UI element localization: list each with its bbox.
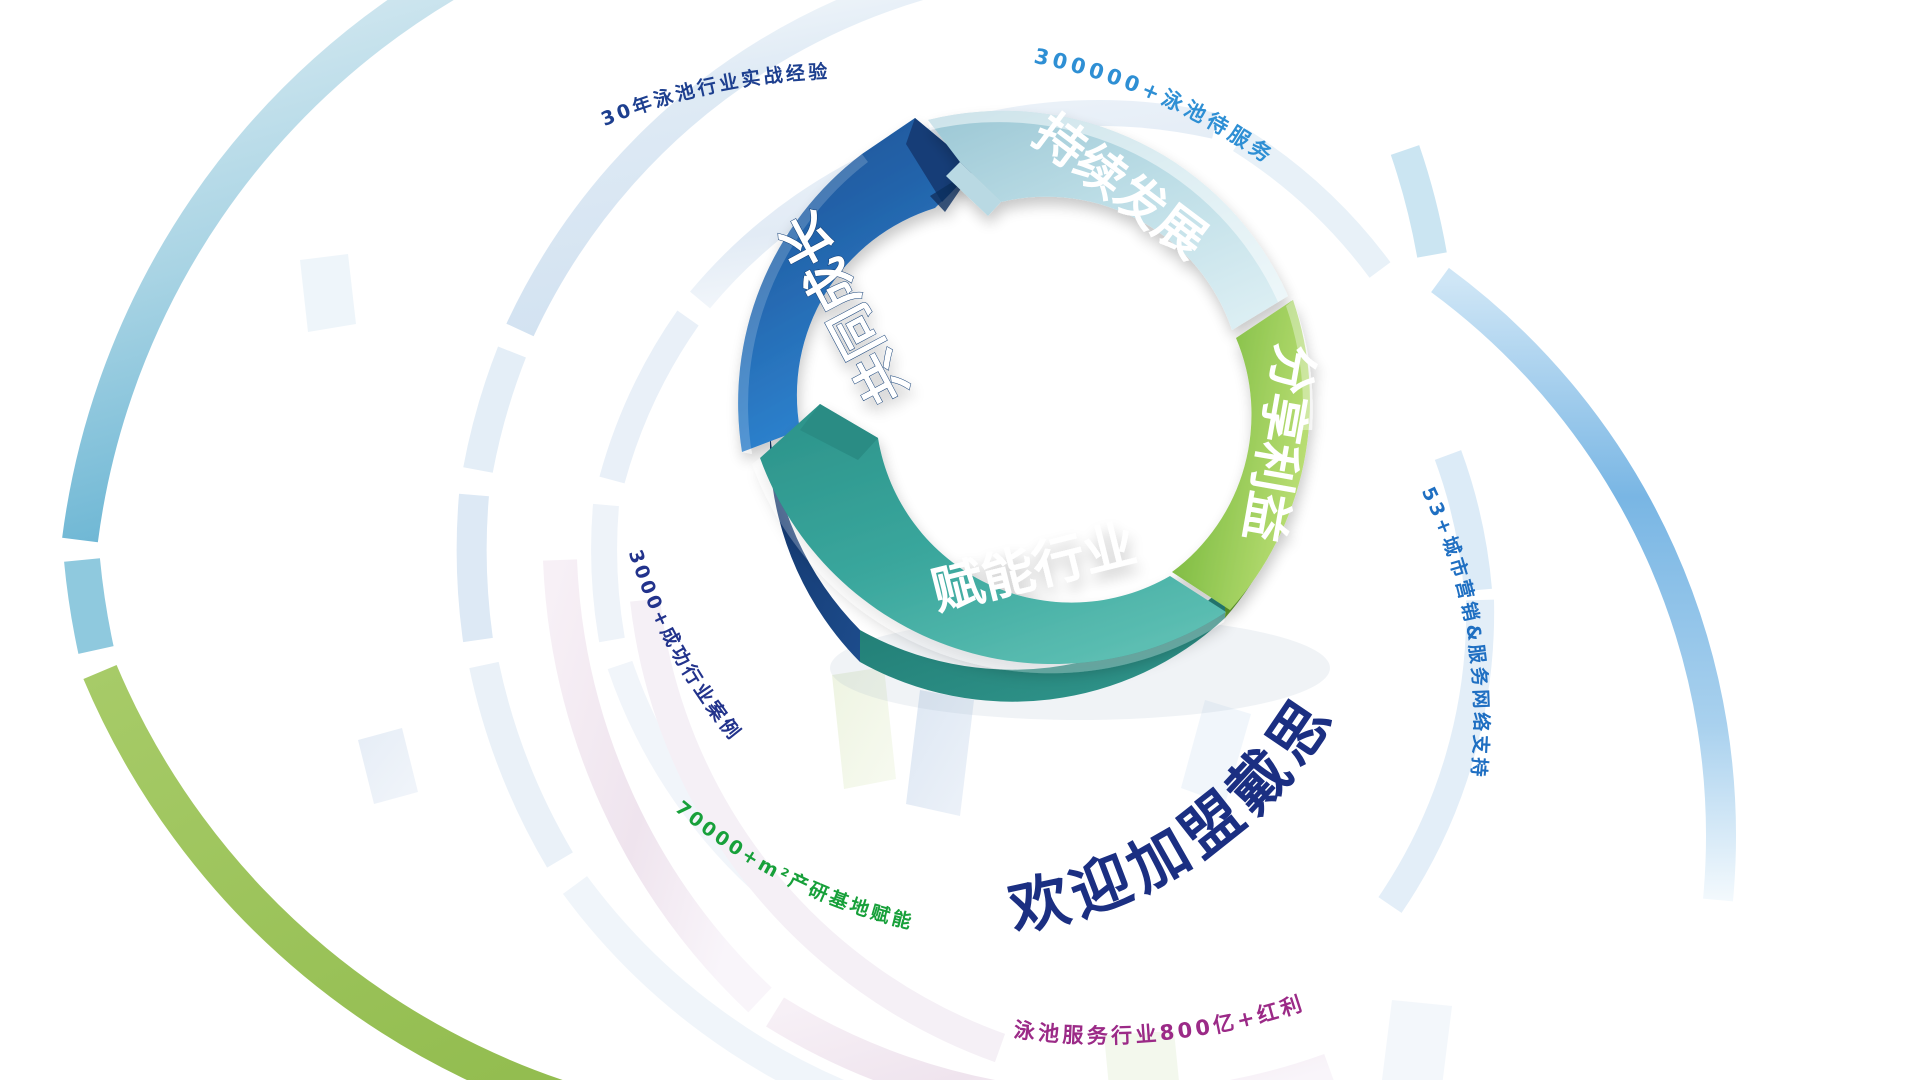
orbit-label-pools: 300000+泳池待服务 xyxy=(1032,44,1279,169)
orbit-label-cases-text: 3000+成功行业案例 xyxy=(624,547,747,746)
orbit-label-cities-text: 53+城市营销&服务网络支持 xyxy=(1417,483,1493,780)
headline-welcome-text: 欢迎加盟戴思乐 xyxy=(0,0,1350,946)
orbit-label-pools-text: 300000+泳池待服务 xyxy=(1032,44,1279,169)
orbit-label-base: 70000+m²产研基地赋能 xyxy=(671,797,917,934)
orbit-label-dividend-text: 泳池服务行业800亿+红利 xyxy=(1013,991,1309,1048)
orbit-label-experience-text: 30年泳池行业实战经验 xyxy=(598,60,831,131)
orbit-label-layer: 30年泳池行业实战经验 300000+泳池待服务 53+城市营销&服务网络支持 … xyxy=(0,0,1920,1080)
orbit-label-base-text: 70000+m²产研基地赋能 xyxy=(671,797,917,934)
orbit-label-cities: 53+城市营销&服务网络支持 xyxy=(1417,483,1493,780)
poster-canvas: 共同成长 持续发展 分享利益 赋能行业 xyxy=(0,0,1920,1080)
orbit-label-cases: 3000+成功行业案例 xyxy=(624,547,747,746)
orbit-label-dividend: 泳池服务行业800亿+红利 xyxy=(1013,991,1309,1048)
orbit-label-experience: 30年泳池行业实战经验 xyxy=(598,60,831,131)
headline-welcome: 欢迎加盟戴思乐 xyxy=(0,0,1350,946)
